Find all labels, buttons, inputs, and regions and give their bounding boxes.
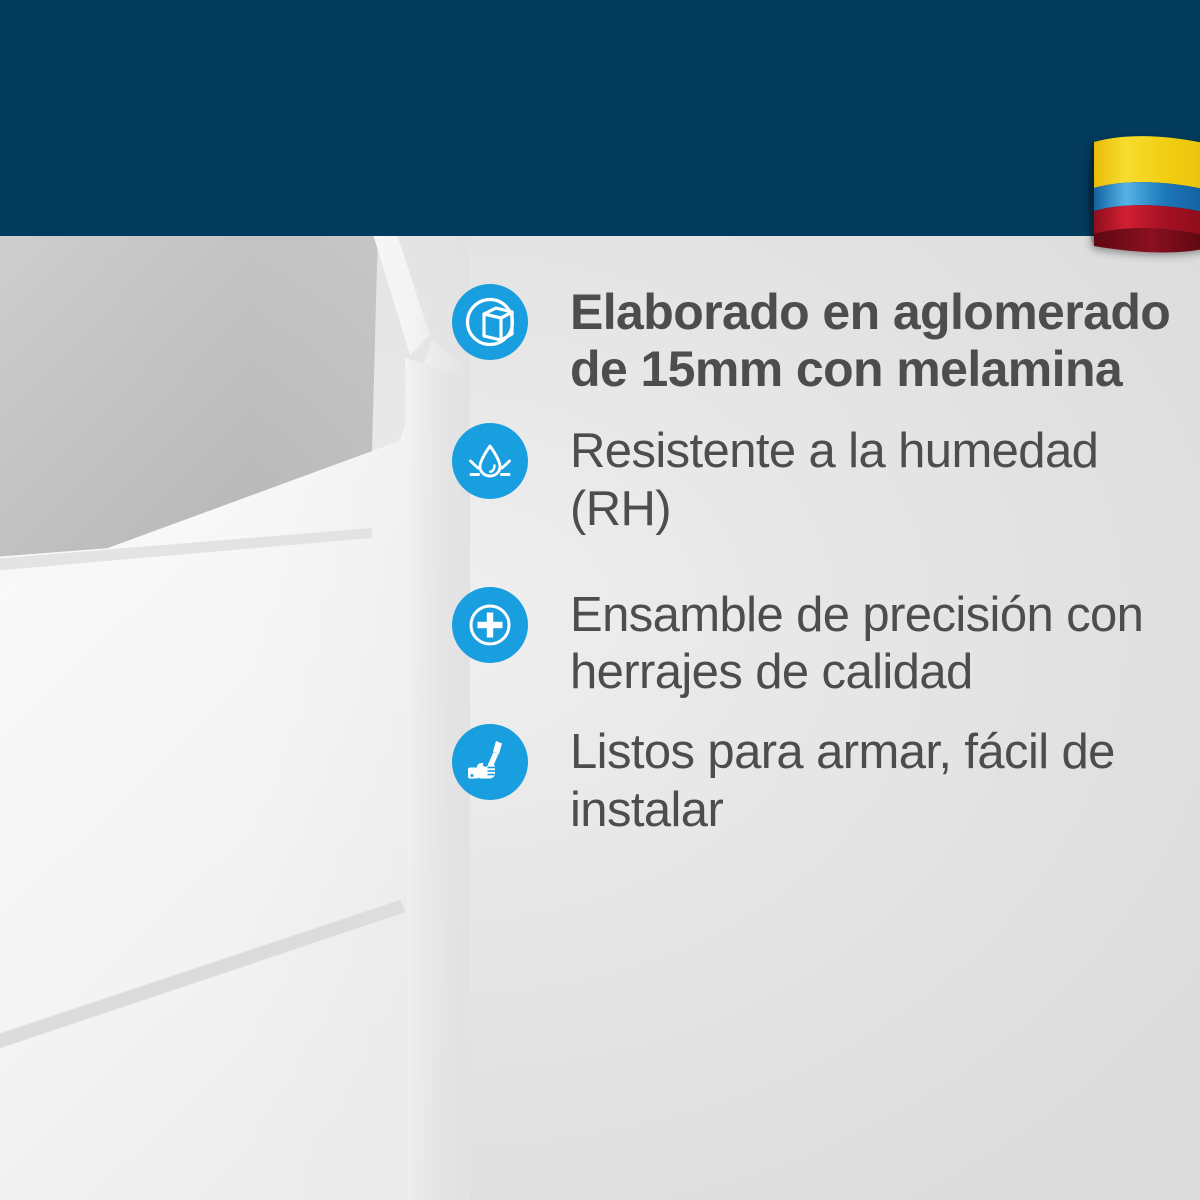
feature-item: Listos para armar, fácil de instalar [452,722,1172,840]
feature-label: Ensamble de precisión con herrajes de ca… [570,585,1172,703]
feature-item: Elaborado en aglomerado de 15mm con mela… [452,282,1172,397]
feature-list: Elaborado en aglomerado de 15mm con mela… [452,282,1172,840]
colombia-flag-ribbon-icon [1088,130,1200,260]
water-drop-resistant-icon [452,423,528,499]
plus-circle-icon [452,587,528,663]
feature-item: Ensamble de precisión con herrajes de ca… [452,585,1172,703]
feature-label: Elaborado en aglomerado de 15mm con mela… [570,282,1172,397]
feature-label: Listos para armar, fácil de instalar [570,722,1172,840]
hand-screwdriver-icon [452,724,528,800]
feature-item: Resistente a la humedad (RH) [452,421,1172,539]
header-band [0,0,1200,236]
product-photo [0,140,470,1200]
promo-banner: Muebles [0,0,1200,1200]
feature-label: Resistente a la humedad (RH) [570,421,1172,539]
melamine-board-icon [452,284,528,360]
